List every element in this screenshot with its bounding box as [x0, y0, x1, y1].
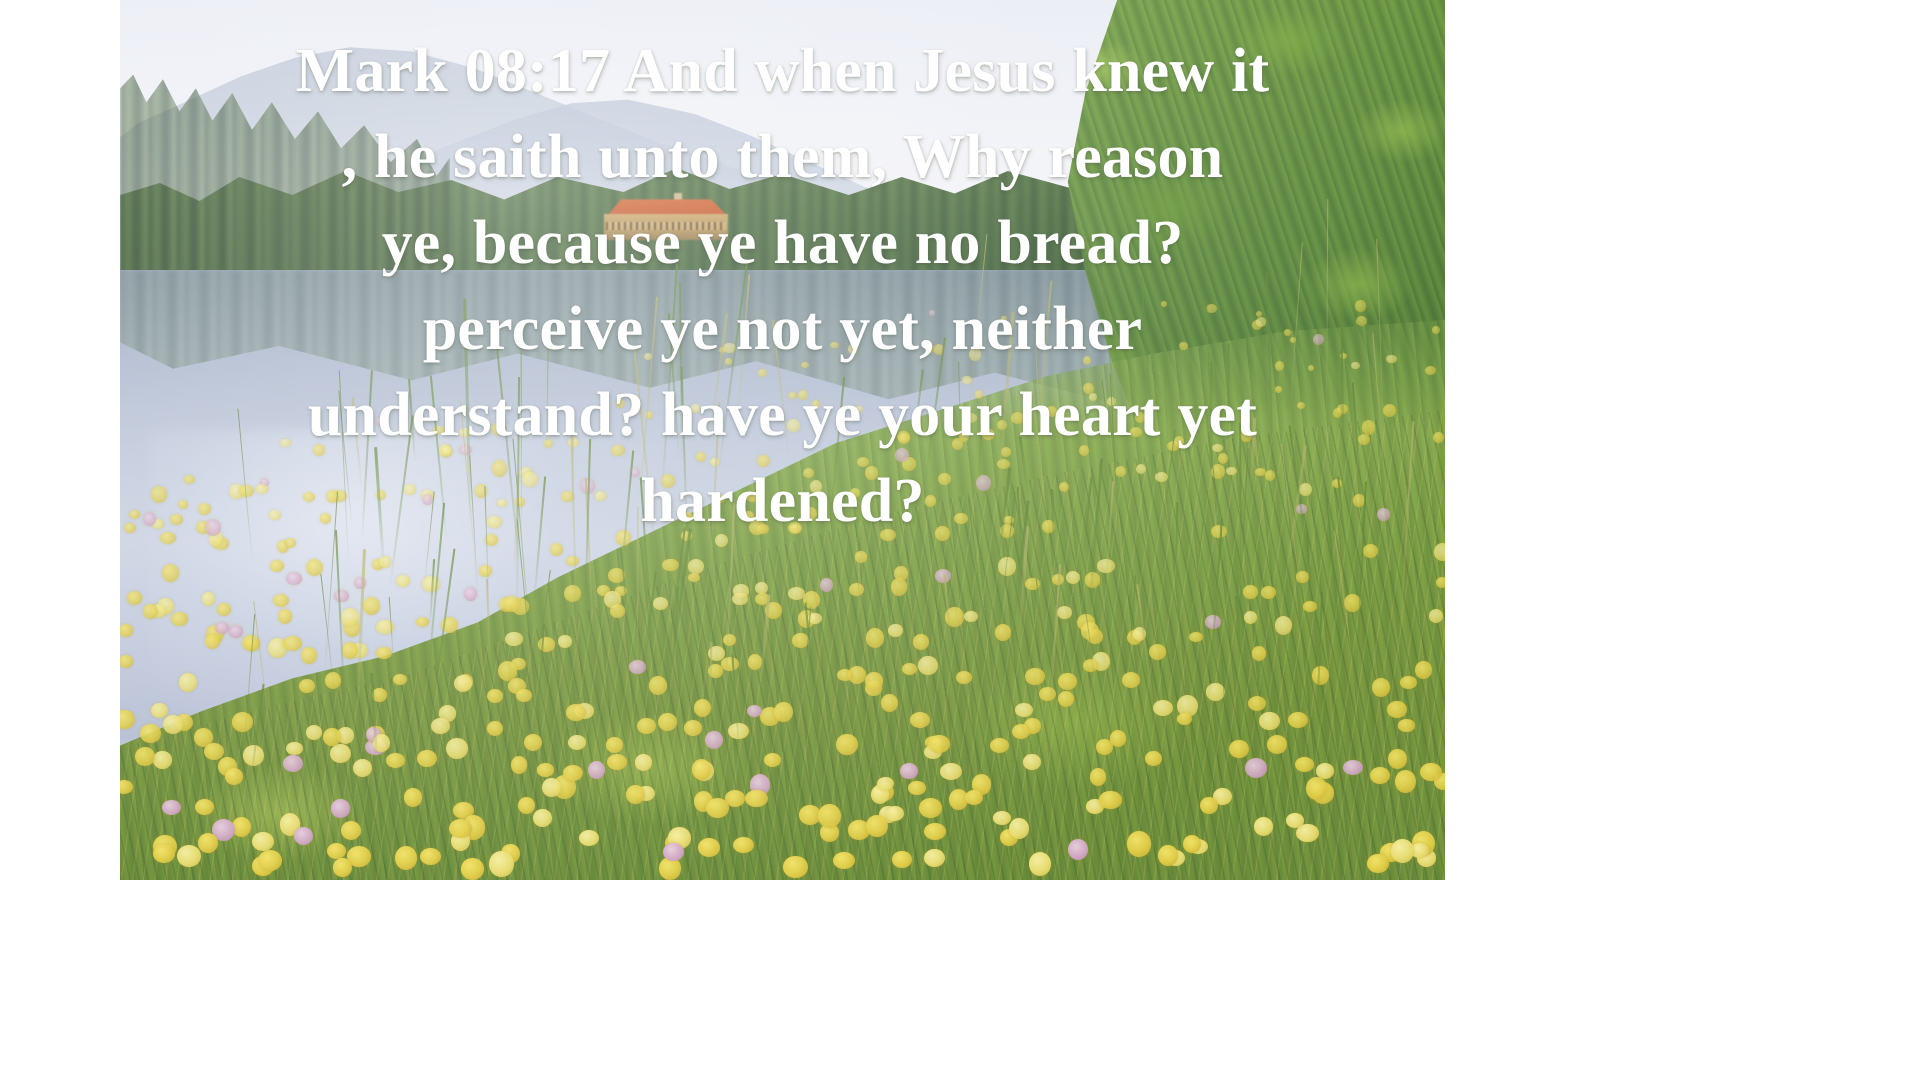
thistle-bloom	[331, 799, 350, 817]
tansy-flower	[487, 721, 503, 736]
tansy-flower	[1306, 777, 1326, 799]
tansy-flower	[1158, 845, 1178, 866]
tansy-flower	[1145, 751, 1162, 766]
thistle-bloom	[663, 843, 685, 861]
tansy-flower	[1395, 770, 1416, 793]
thistle-bloom	[588, 761, 605, 779]
tansy-flower	[888, 624, 902, 637]
tansy-flower	[143, 604, 157, 619]
tansy-flower	[489, 851, 513, 877]
tansy-flower	[1248, 696, 1266, 711]
tansy-flower	[662, 559, 679, 572]
tansy-flower	[333, 858, 352, 878]
tansy-flower	[993, 811, 1011, 824]
tansy-flower	[783, 856, 808, 877]
tansy-flower	[1398, 719, 1414, 731]
tansy-flower	[516, 689, 532, 702]
tansy-flower	[774, 702, 793, 722]
tansy-flower	[1261, 586, 1276, 599]
tansy-flower	[1099, 791, 1121, 808]
thistle-bloom	[229, 625, 243, 639]
tansy-flower	[924, 849, 945, 867]
tansy-flower	[177, 845, 200, 867]
tansy-flower	[205, 634, 221, 649]
tansy-flower	[1429, 609, 1443, 622]
thistle-bloom	[820, 578, 833, 592]
tansy-flower	[1012, 724, 1030, 739]
tansy-flower	[566, 556, 579, 566]
tansy-flower	[1259, 712, 1280, 731]
thistle-bloom	[283, 755, 303, 772]
tansy-flower	[855, 551, 866, 562]
tansy-flower	[894, 566, 908, 581]
tansy-flower	[1029, 852, 1051, 875]
tansy-flower	[908, 781, 926, 796]
thistle-bloom	[900, 763, 918, 779]
tansy-flower	[1023, 754, 1040, 771]
tansy-flower	[558, 635, 572, 647]
tansy-flower	[179, 673, 197, 691]
tansy-flower	[607, 754, 627, 770]
tansy-flower	[1367, 854, 1389, 873]
tansy-flower	[446, 738, 467, 759]
tansy-flower	[198, 833, 218, 853]
tansy-flower	[1254, 817, 1273, 836]
tansy-flower	[1200, 797, 1218, 814]
tansy-flower	[626, 785, 645, 804]
tansy-flower	[892, 851, 912, 869]
verse-overlay: Mark 08:17 And when Jesus knew it, he sa…	[120, 28, 1445, 544]
tansy-flower	[270, 560, 283, 572]
tansy-flower	[928, 735, 950, 752]
tansy-flower	[866, 628, 884, 648]
tansy-flower	[454, 675, 472, 692]
tansy-flower	[836, 734, 857, 755]
verse-text: Mark 08:17 And when Jesus knew it, he sa…	[138, 28, 1427, 544]
tansy-flower	[818, 804, 840, 828]
tansy-flower	[232, 712, 253, 733]
tansy-flower	[518, 797, 536, 814]
tansy-flower	[866, 815, 888, 838]
verse-line: Mark 08:17 And when Jesus knew it	[138, 28, 1427, 114]
tansy-flower	[692, 759, 711, 779]
tansy-flower	[653, 597, 668, 610]
tansy-flower	[891, 578, 907, 596]
tansy-flower	[327, 843, 346, 859]
tansy-flower	[1081, 622, 1099, 640]
tansy-flower	[579, 830, 599, 846]
tansy-flower	[511, 756, 527, 774]
tansy-flower	[537, 763, 554, 776]
bottom-margin	[0, 880, 1920, 1080]
tansy-flower	[195, 799, 214, 815]
verse-line: ye, because ye have no bread?	[138, 200, 1427, 286]
tansy-flower	[919, 798, 942, 818]
tansy-flower	[688, 559, 704, 574]
tansy-flower	[505, 632, 522, 646]
tansy-flower	[479, 565, 492, 578]
tansy-flower	[1058, 673, 1076, 690]
tansy-flower	[151, 703, 168, 718]
tansy-flower	[1400, 676, 1417, 689]
image-canvas: Mark 08:17 And when Jesus knew it, he sa…	[0, 0, 1920, 1080]
tansy-flower	[127, 591, 143, 605]
tansy-flower	[1149, 644, 1166, 660]
tansy-flower	[162, 564, 179, 581]
tansy-flower	[1316, 763, 1334, 779]
tansy-flower	[610, 604, 626, 618]
thistle-bloom	[286, 572, 302, 586]
tansy-flower	[1436, 577, 1445, 588]
tansy-flower	[171, 612, 188, 625]
tansy-flower	[1372, 678, 1390, 697]
tansy-flower	[563, 765, 583, 781]
tansy-flower	[1039, 687, 1056, 701]
tansy-flower	[755, 582, 767, 594]
verse-line: perceive ye not yet, neither	[138, 286, 1427, 372]
tansy-flower	[386, 753, 405, 768]
tansy-flower	[564, 585, 582, 602]
tansy-flower	[487, 689, 503, 703]
tansy-flower	[940, 763, 962, 780]
tansy-flower	[1303, 601, 1317, 612]
verse-line: understand? have ye your heart yet	[138, 372, 1427, 458]
tansy-flower	[503, 596, 521, 612]
tansy-flower	[306, 725, 322, 740]
tansy-flower	[688, 573, 700, 582]
tansy-flower	[886, 806, 904, 822]
tansy-flower	[1153, 700, 1173, 716]
tansy-flower	[461, 858, 483, 879]
tansy-flower	[1415, 661, 1432, 679]
tansy-flower	[1057, 606, 1072, 618]
tansy-flower	[1229, 740, 1249, 759]
tansy-flower	[140, 724, 160, 743]
tansy-flower	[1025, 668, 1045, 685]
tansy-flower	[1127, 831, 1150, 856]
tansy-flower	[849, 583, 864, 596]
tansy-flower	[1420, 763, 1442, 781]
thistle-bloom	[162, 800, 181, 815]
thistle-bloom	[334, 590, 348, 603]
tansy-flower	[153, 751, 171, 769]
tansy-flower	[1122, 672, 1140, 688]
tansy-flower	[721, 657, 739, 671]
thistle-bloom	[705, 731, 723, 749]
thistle-bloom	[1343, 760, 1363, 775]
tansy-flower	[217, 603, 231, 616]
tansy-flower	[283, 636, 302, 651]
tansy-flower	[542, 778, 561, 797]
tansy-flower	[1177, 713, 1192, 725]
tansy-flower	[1388, 749, 1407, 769]
tansy-flower	[135, 747, 154, 766]
tansy-flower	[1244, 611, 1257, 624]
tansy-flower	[918, 656, 937, 675]
tansy-flower	[910, 712, 930, 728]
tansy-flower	[723, 634, 736, 646]
tansy-flower	[163, 715, 183, 735]
tansy-flower	[1252, 646, 1266, 660]
tansy-flower	[745, 790, 768, 807]
verse-line: hardened?	[138, 458, 1427, 544]
tansy-flower	[1189, 632, 1203, 643]
tansy-flower	[431, 718, 450, 734]
tansy-flower	[330, 744, 351, 763]
tansy-flower	[1058, 691, 1074, 707]
tansy-flower	[550, 543, 563, 557]
tansy-flower	[153, 844, 175, 863]
tansy-flower	[964, 611, 977, 622]
tansy-flower	[120, 624, 133, 636]
tansy-flower	[323, 728, 340, 746]
tansy-flower	[376, 647, 391, 659]
tansy-flower	[684, 720, 703, 736]
verse-line: , he saith unto them, Why reason	[138, 114, 1427, 200]
tansy-flower	[764, 753, 781, 767]
tansy-flower	[1391, 839, 1413, 863]
thistle-bloom	[354, 577, 366, 589]
tansy-flower	[342, 642, 358, 659]
tansy-flower	[1275, 616, 1292, 634]
thistle-bloom	[464, 587, 477, 600]
tansy-flower	[733, 584, 749, 597]
tansy-flower	[1387, 701, 1406, 718]
